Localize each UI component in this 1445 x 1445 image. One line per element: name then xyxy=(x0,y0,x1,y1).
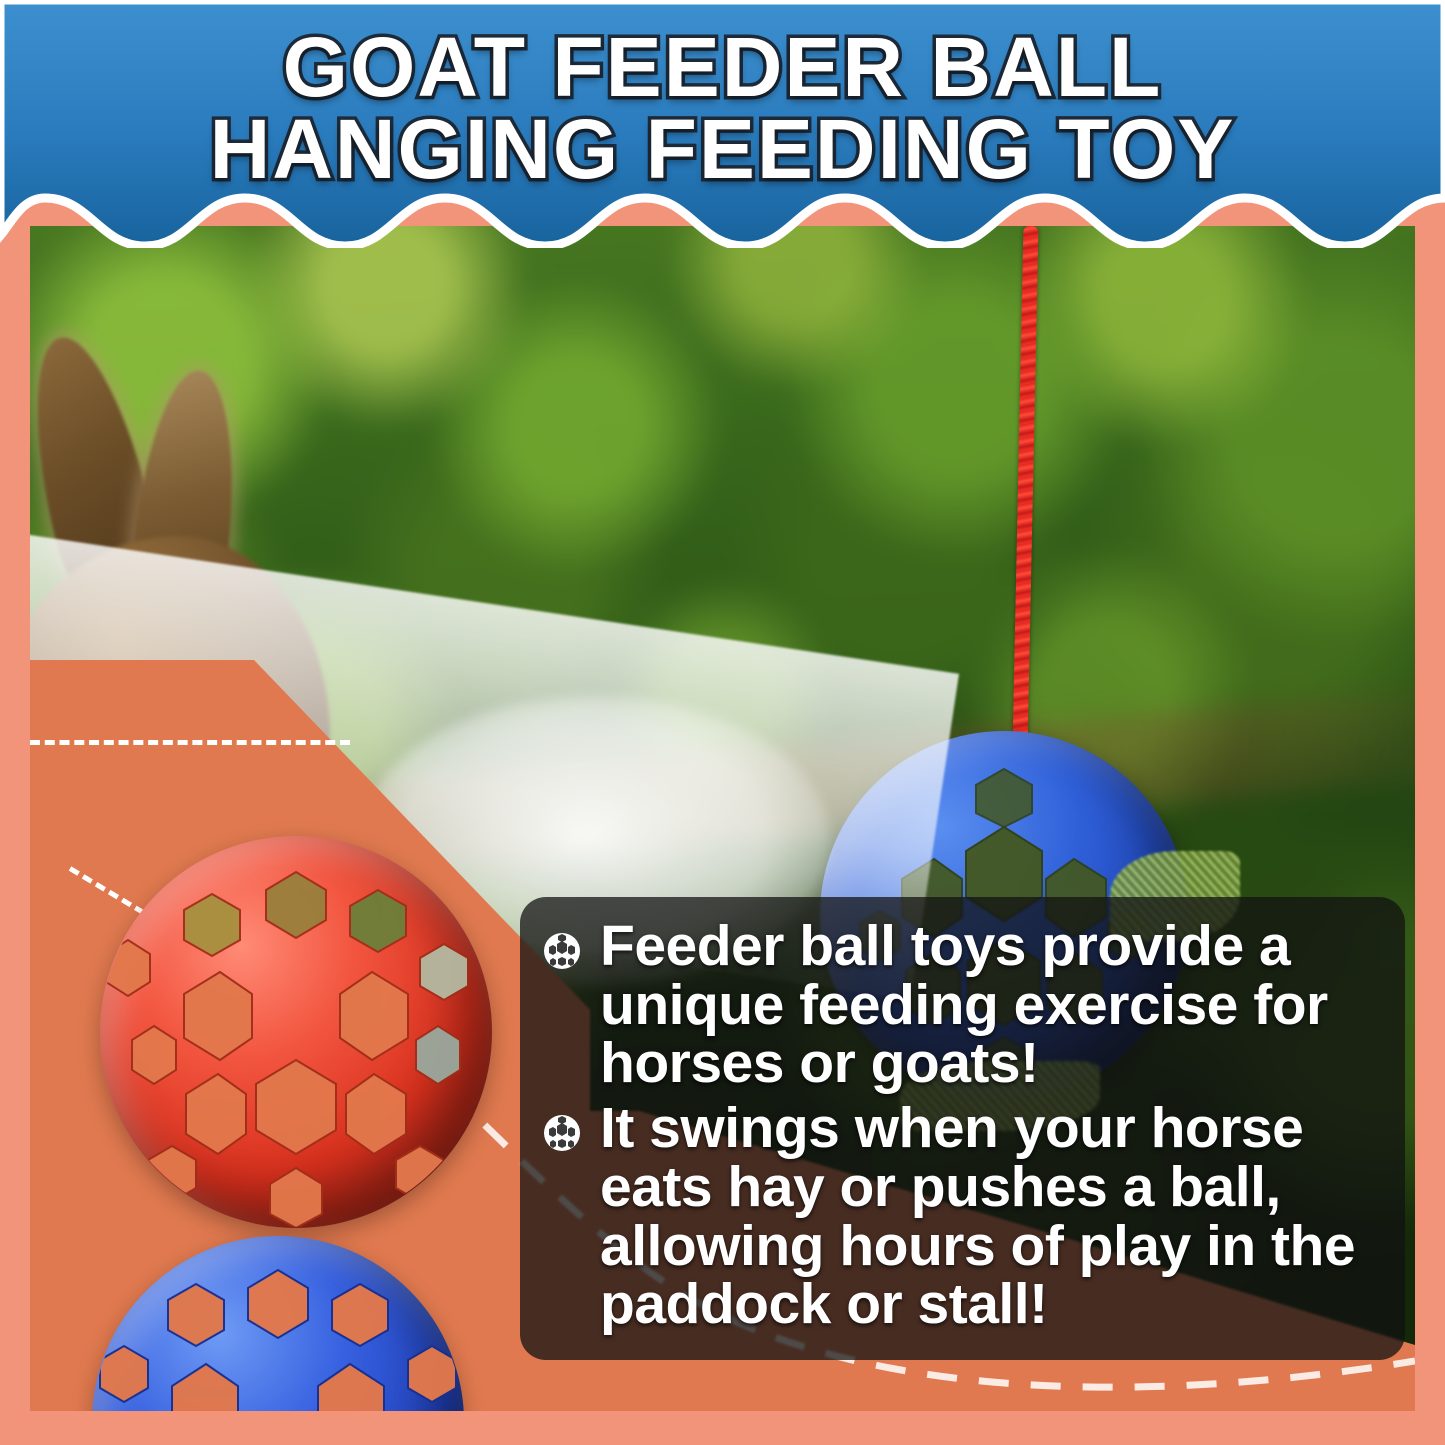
red-feeder-ball xyxy=(100,836,492,1228)
feature-bullets-panel: Feeder ball toys provide a unique feedin… xyxy=(520,897,1405,1360)
page-title: Goat Feeder Ball Hanging Feeding Toy xyxy=(0,26,1445,191)
lattice-holes-blue xyxy=(92,1236,464,1411)
bullet-item: Feeder ball toys provide a unique feedin… xyxy=(542,917,1383,1093)
lattice-holes-red xyxy=(100,836,492,1228)
hollow-ball-icon xyxy=(542,1113,582,1153)
bullet-text: It swings when your horse eats hay or pu… xyxy=(600,1099,1383,1334)
product-infographic: Feeder ball toys provide a unique feedin… xyxy=(0,0,1445,1445)
product-photo: Feeder ball toys provide a unique feedin… xyxy=(30,226,1415,1411)
ball-shell-red xyxy=(100,836,492,1228)
dashed-line-horizontal xyxy=(30,740,350,745)
ball-shell-blue xyxy=(92,1236,464,1411)
header-banner: Goat Feeder Ball Hanging Feeding Toy xyxy=(0,0,1445,248)
title-line-1: Goat Feeder Ball xyxy=(0,26,1445,108)
hollow-ball-icon xyxy=(542,931,582,971)
bullet-item: It swings when your horse eats hay or pu… xyxy=(542,1099,1383,1334)
title-line-2: Hanging Feeding Toy xyxy=(0,108,1445,190)
bullet-text: Feeder ball toys provide a unique feedin… xyxy=(600,917,1383,1093)
blue-feeder-ball xyxy=(92,1236,464,1411)
